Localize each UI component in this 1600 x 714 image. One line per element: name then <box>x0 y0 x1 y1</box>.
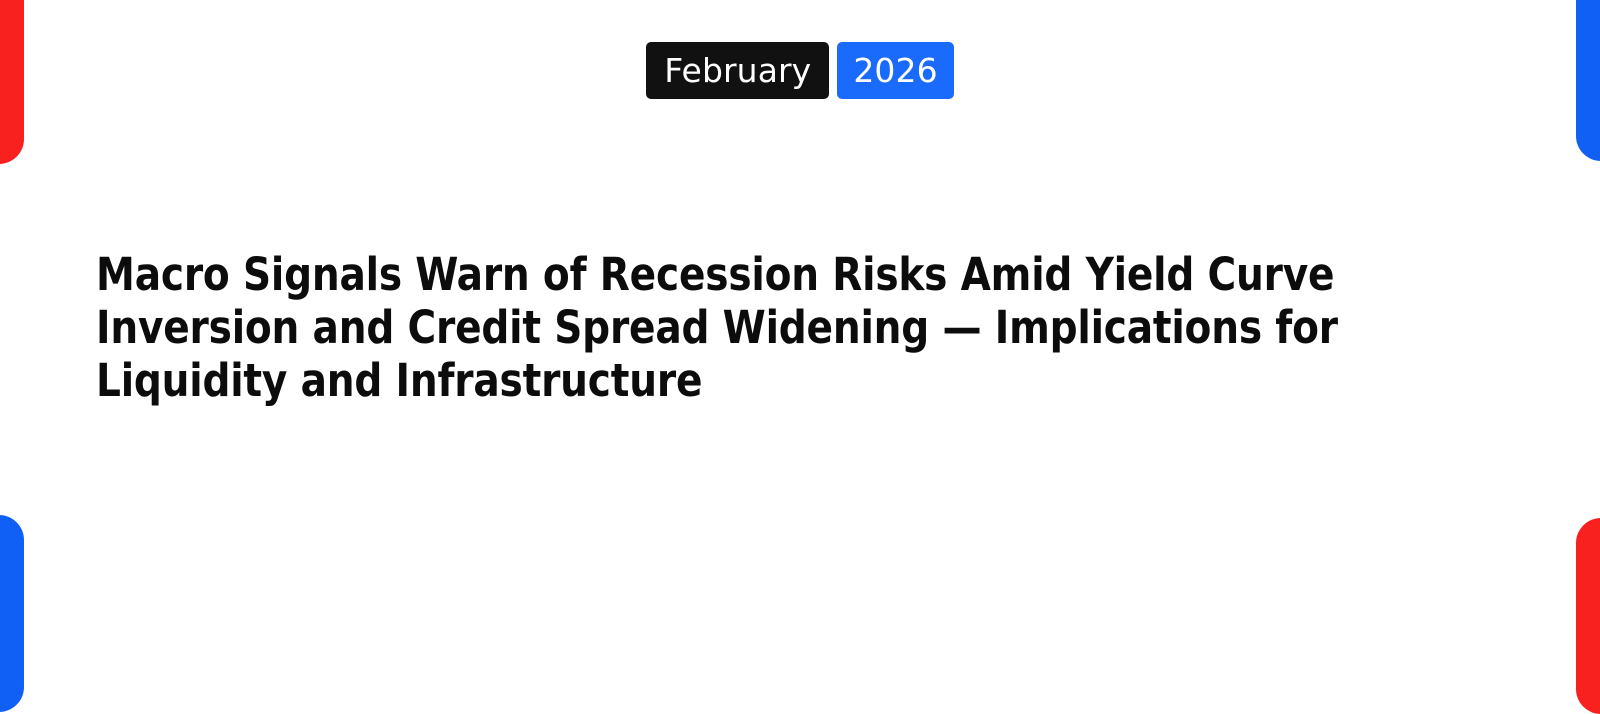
accent-bar-bottom-left <box>0 515 24 712</box>
slide-canvas: February 2026 Macro Signals Warn of Rece… <box>0 0 1600 684</box>
accent-bar-bottom-right <box>1576 518 1600 714</box>
date-badge-month: February <box>646 42 829 99</box>
date-badge: February 2026 <box>0 42 1600 99</box>
date-badge-year: 2026 <box>837 42 953 99</box>
page-title: Macro Signals Warn of Recession Risks Am… <box>96 248 1424 407</box>
headline-block: Macro Signals Warn of Recession Risks Am… <box>96 248 1472 407</box>
